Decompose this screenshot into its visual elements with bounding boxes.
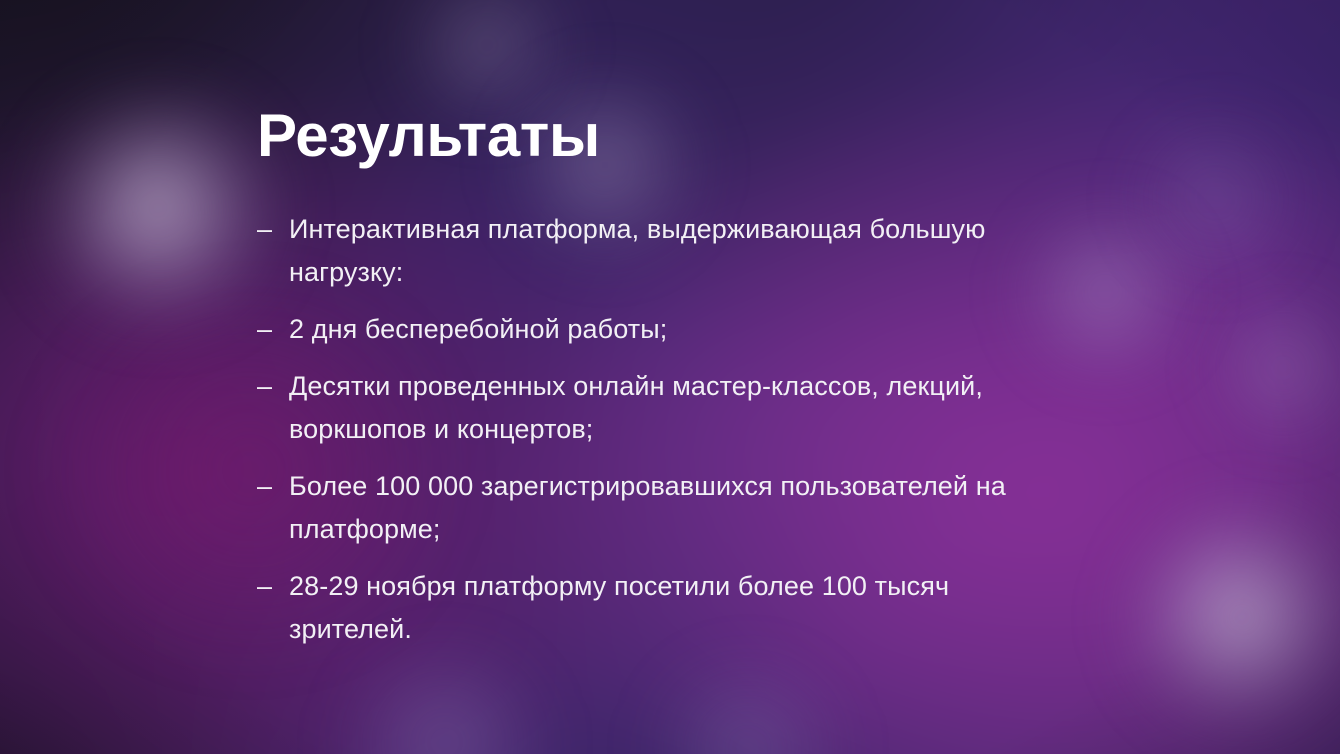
background-glow-left: [33, 93, 283, 323]
page-title: Результаты: [257, 104, 1097, 168]
list-item-label: 28-29 ноября платформу посетили более 10…: [289, 565, 1064, 651]
list-item: – Десятки проведенных онлайн мастер-клас…: [257, 365, 1097, 451]
dash-icon: –: [257, 465, 289, 508]
list-item-label: 2 дня бесперебойной работы;: [289, 308, 1064, 351]
background-glow-bottom-left: [340, 652, 550, 754]
dash-icon: –: [257, 308, 289, 351]
background-glow-far-right: [1213, 298, 1340, 438]
presentation-slide: Результаты – Интерактивная платформа, вы…: [0, 0, 1340, 754]
list-item: – 2 дня бесперебойной работы;: [257, 308, 1097, 351]
list-item-label: Интерактивная платформа, выдерживающая б…: [289, 208, 1064, 294]
list-item: – 28-29 ноября платформу посетили более …: [257, 565, 1097, 651]
dash-icon: –: [257, 365, 289, 408]
background-glow-bottom-center: [648, 663, 848, 754]
list-item-label: Более 100 000 зарегистрировавшихся польз…: [289, 465, 1064, 551]
background-glow-bottom-right: [1125, 505, 1340, 730]
dash-icon: –: [257, 208, 289, 251]
list-item: – Интерактивная платформа, выдерживающая…: [257, 208, 1097, 294]
results-bullet-list: – Интерактивная платформа, выдерживающая…: [257, 208, 1097, 651]
slide-content: Результаты – Интерактивная платформа, вы…: [257, 104, 1097, 651]
background-glow-top-right: [1131, 118, 1301, 278]
dash-icon: –: [257, 565, 289, 608]
list-item: – Более 100 000 зарегистрировавшихся пол…: [257, 465, 1097, 551]
list-item-label: Десятки проведенных онлайн мастер-классо…: [289, 365, 1064, 451]
